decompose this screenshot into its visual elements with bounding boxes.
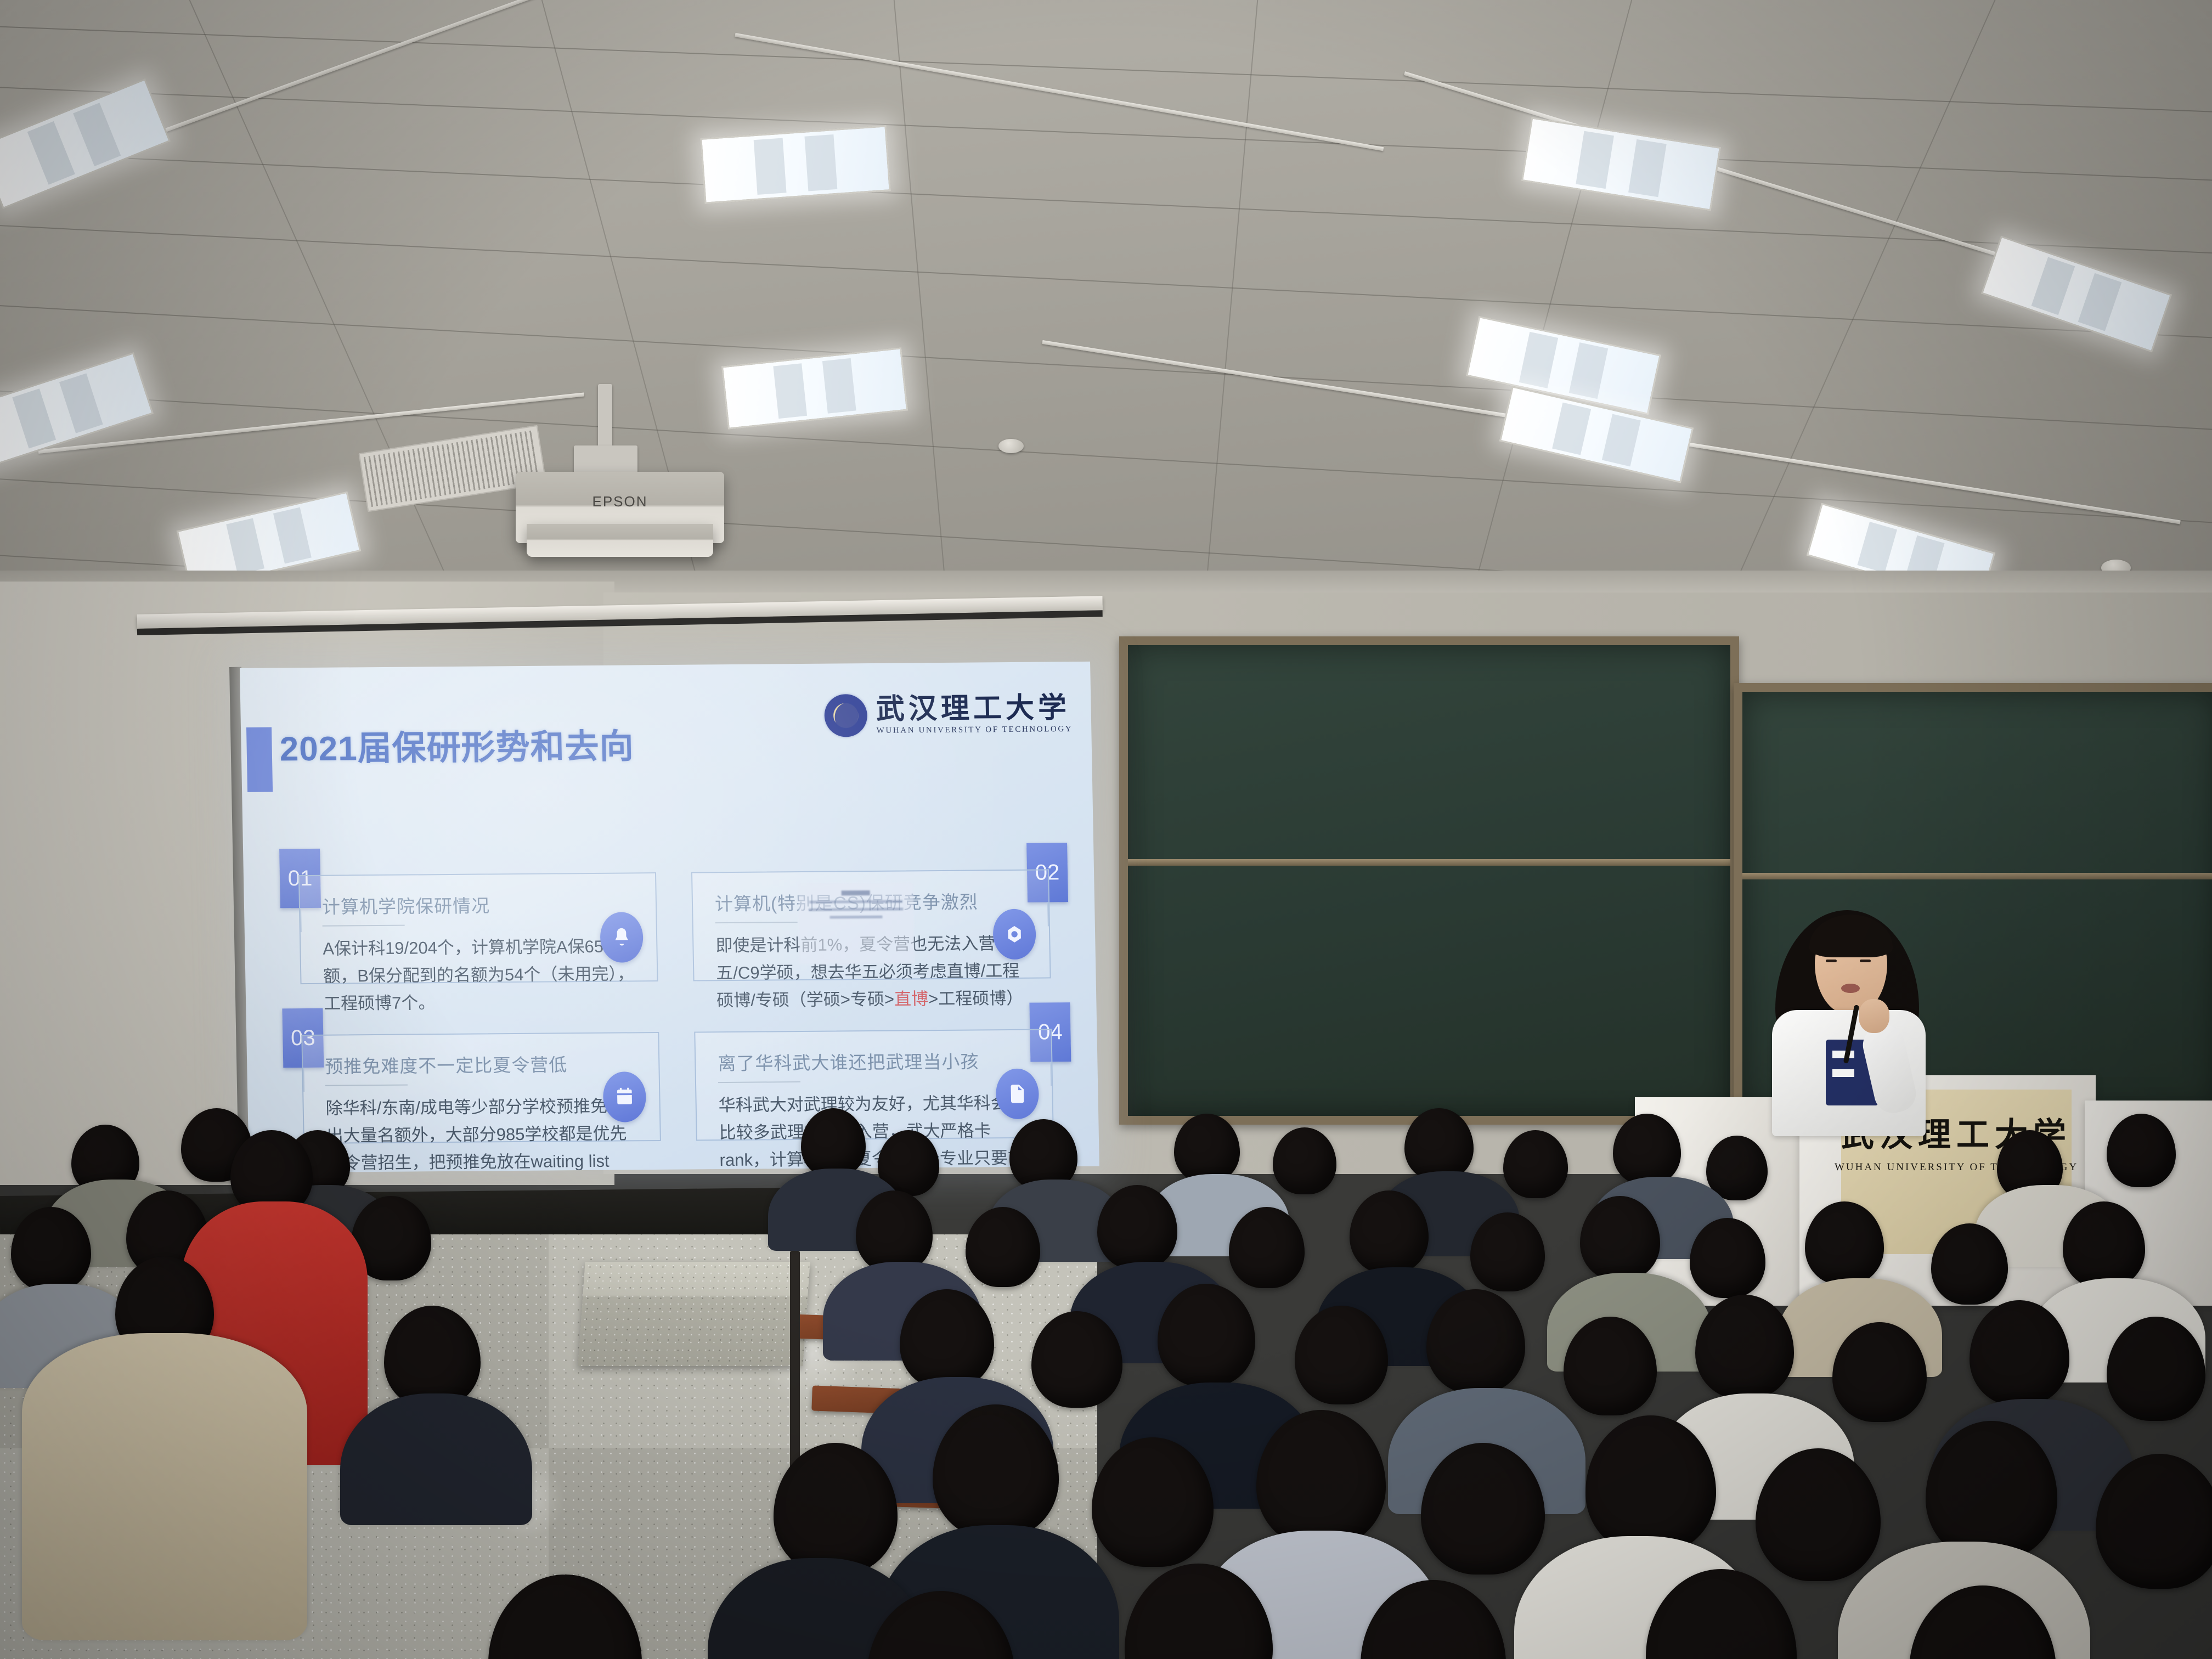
audience-head-foreground bbox=[488, 1575, 642, 1659]
audience-head bbox=[900, 1289, 994, 1389]
audience-head bbox=[1174, 1114, 1240, 1183]
audience-head bbox=[1470, 1212, 1545, 1291]
lecture-hall-photo: EPSON 2021届保研形势和去向 武汉理工大学 WUHAN UNIVERSI… bbox=[0, 0, 2212, 1659]
audience-head bbox=[1426, 1289, 1525, 1393]
audience-head bbox=[384, 1306, 481, 1408]
audience-head bbox=[1706, 1136, 1768, 1200]
audience-head bbox=[1273, 1127, 1336, 1194]
audience-head bbox=[2107, 1114, 2176, 1187]
audience-head bbox=[801, 1108, 866, 1177]
audience-head bbox=[1805, 1201, 1884, 1285]
audience-head bbox=[856, 1190, 933, 1273]
audience-head bbox=[1503, 1130, 1568, 1198]
audience-head bbox=[1695, 1295, 1794, 1399]
audience bbox=[0, 0, 2212, 1659]
audience-head bbox=[1229, 1207, 1305, 1288]
audience-shoulders-beige-jacket bbox=[22, 1333, 307, 1640]
audience-head bbox=[2063, 1201, 2145, 1288]
audience-head bbox=[1690, 1218, 1765, 1298]
audience-shoulders bbox=[340, 1393, 532, 1525]
audience-head bbox=[1158, 1284, 1255, 1387]
audience-head bbox=[1404, 1108, 1474, 1181]
audience-head bbox=[1613, 1114, 1681, 1185]
